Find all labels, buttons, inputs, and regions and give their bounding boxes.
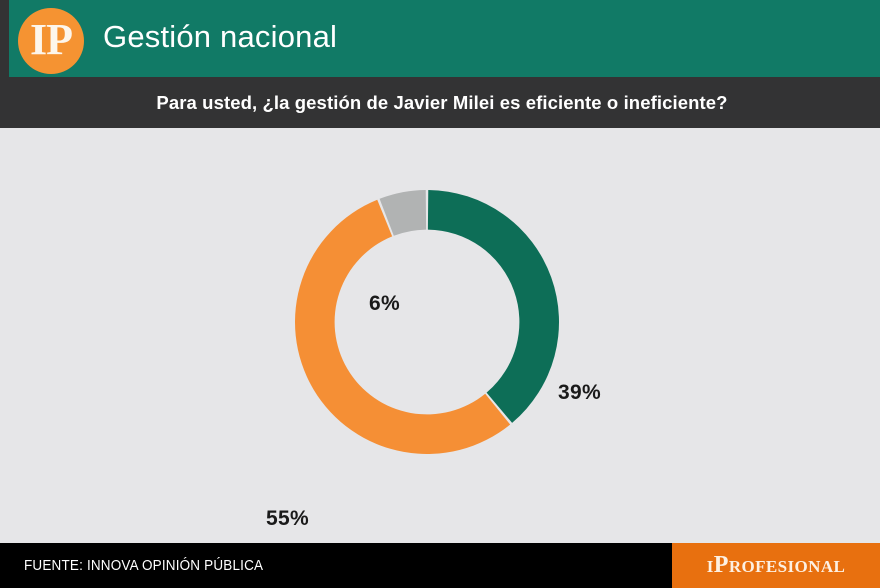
donut-chart [295,190,559,454]
source-text: FUENTE: INNOVA OPINIÓN PÚBLICA [24,543,263,588]
data-label-ineficiente: 55% [266,507,309,531]
data-label-eficiente: 39% [558,381,601,405]
question-band: Para usted, ¿la gestión de Javier Milei … [0,77,880,128]
donut-chart-svg [295,190,559,454]
brand-text: iProfesional [707,552,846,579]
brand-block: iProfesional [672,543,880,588]
question-text: Para usted, ¿la gestión de Javier Milei … [0,77,880,128]
data-label-no-sabe: 6% [369,292,400,316]
left-edge-strip [0,0,9,128]
ip-circle-logo-icon: IP [18,8,84,74]
donut-slice-eficiente [428,190,559,423]
page-title: Gestión nacional [103,17,337,57]
infographic-page: IP Gestión nacional Para usted, ¿la gest… [0,0,880,588]
logo-text: IP [30,18,72,62]
chart-area: 39% 55% 6% EficienteIneficienteNo sabe [0,128,880,531]
